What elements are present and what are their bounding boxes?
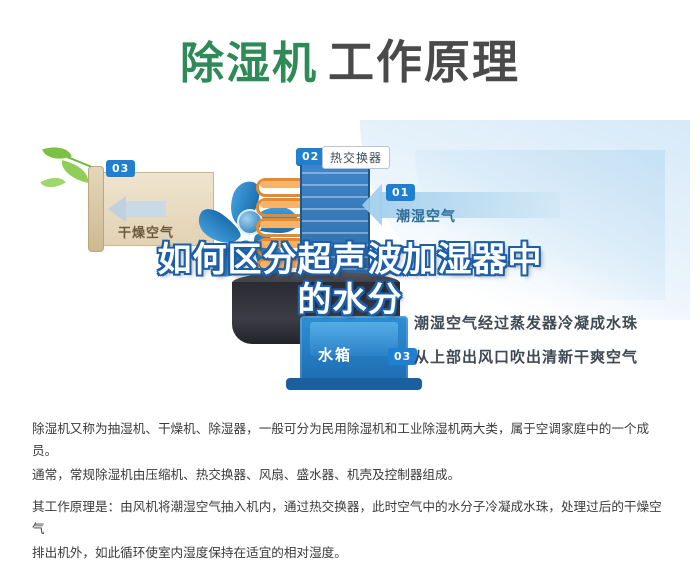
dry-air-duct-lip [88,166,104,252]
illustration-area: 除湿机工作原理 干燥空气 [0,0,700,410]
title-green-part: 除湿机 [180,38,318,89]
illustration-title: 除湿机工作原理 [0,26,700,92]
title-gray-part: 工作原理 [328,35,520,89]
badge-03-left: 03 [106,160,135,177]
body-paragraph-3-lead: 其工作原理是： [32,499,120,514]
water-tank-label: 水箱 [318,344,352,365]
body-paragraph-1: 除湿机又称为抽湿机、干燥机、除湿器，一般可分为民用除湿机和工业除湿机两大类，属于… [32,418,672,462]
dry-air-arrow-tail [126,201,166,217]
article-body: 除湿机又称为抽湿机、干燥机、除湿器，一般可分为民用除湿机和工业除湿机两大类，属于… [32,418,672,566]
badge-03-bottom: 03 [388,348,417,365]
page-root: 除湿机工作原理 干燥空气 [0,0,700,566]
body-paragraph-3-rest: 由风机将潮湿空气抽入机内，通过热交换器，此时空气中的水分子冷凝成水珠，处理过后的… [32,499,662,536]
badge-01: 01 [386,184,415,201]
body-paragraph-4: 排出机外，如此循环使室内湿度保持在适宜的相对湿度。 [32,542,672,564]
body-paragraph-3: 其工作原理是：由风机将潮湿空气抽入机内，通过热交换器，此时空气中的水分子冷凝成水… [32,496,672,540]
caption-outlet: 从上部出风口吹出清新干爽空气 [414,346,638,367]
caption-condensation: 潮湿空气经过蒸发器冷凝成水珠 [414,312,638,333]
humid-air-label: 潮湿空气 [396,206,456,226]
evaporator-block [300,160,370,284]
water-tank-base [286,378,422,390]
badge-02: 02 [296,148,325,165]
dry-air-label: 干燥空气 [118,222,174,241]
heat-exchanger-tag: 热交换器 [322,146,390,169]
dry-air-arrow-head [108,196,126,222]
body-paragraph-2: 通常，常规除湿机由压缩机、热交换器、风扇、盛水器、机壳及控制器组成。 [32,464,672,486]
